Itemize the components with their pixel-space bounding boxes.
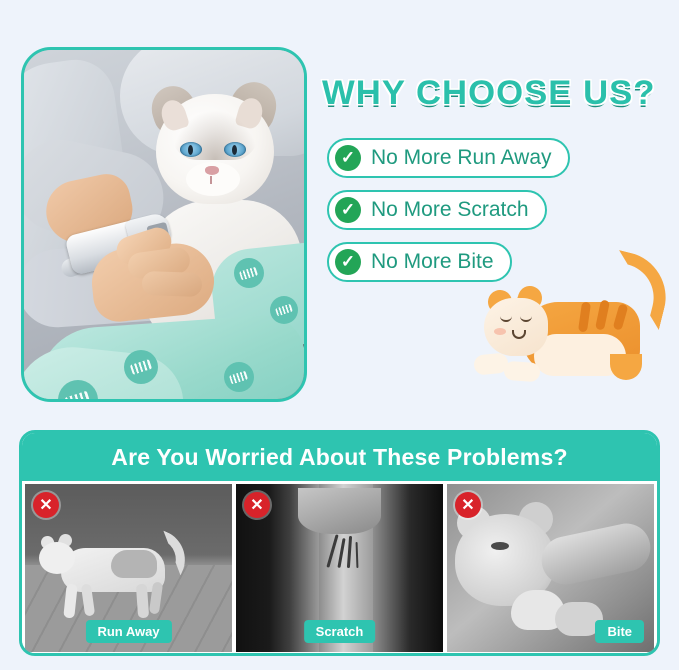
fishbone-print-4: [224, 362, 254, 392]
problem-1-cat-patch: [111, 550, 157, 578]
check-circle-icon: ✓: [335, 249, 361, 275]
why-choose-us-section: WHY CHOOSE US? ✓ No More Run Away ✓ No M…: [0, 0, 679, 424]
x-circle-icon: ✕: [244, 492, 270, 518]
x-circle-icon: ✕: [33, 492, 59, 518]
x-circle-icon: ✕: [455, 492, 481, 518]
cartoon-cat-back-leg: [610, 354, 642, 380]
cartoon-cat-head: [484, 298, 548, 356]
cat-mouth: [210, 176, 212, 184]
problem-caption: Run Away: [85, 620, 171, 643]
cat-pupil-left: [188, 145, 193, 155]
problem-1-cat-head: [39, 542, 75, 574]
problems-section: Are You Worried About These Problems? ✕ …: [19, 430, 660, 656]
problem-1-cat-leg-3: [136, 584, 149, 619]
problem-card-run-away: ✕ Run Away: [25, 484, 232, 652]
problem-caption: Bite: [595, 620, 644, 643]
hero-photo-cat-claw-trimming: [21, 47, 307, 402]
problem-3-cat-eye: [491, 542, 509, 550]
problems-title: Are You Worried About These Problems?: [22, 433, 657, 481]
fishbone-print-6: [270, 296, 298, 324]
cat-nose: [205, 166, 219, 175]
benefit-item-scratch: ✓ No More Scratch: [327, 190, 547, 230]
problem-2-hand: [298, 488, 381, 534]
person-finger-3: [142, 271, 203, 297]
fishbone-print-5: [234, 258, 264, 288]
check-circle-icon: ✓: [335, 145, 361, 171]
fishbone-print-2: [124, 350, 158, 384]
cat-pupil-right: [232, 145, 237, 155]
problem-card-scratch: ✕ Scratch: [236, 484, 443, 652]
cartoon-cat-illustration: [460, 258, 670, 408]
check-circle-icon: ✓: [335, 197, 361, 223]
benefit-label: No More Scratch: [371, 198, 529, 222]
cartoon-cat-front-paw-2: [503, 361, 540, 382]
problem-caption: Scratch: [304, 620, 376, 643]
page-title: WHY CHOOSE US?: [322, 74, 679, 113]
benefit-label: No More Run Away: [371, 146, 552, 170]
problem-card-bite: ✕ Bite: [447, 484, 654, 652]
cartoon-cat-blush: [494, 328, 506, 335]
problem-grid: ✕ Run Away ✕ Scratch ✕ Bite: [22, 481, 657, 655]
benefit-item-run-away: ✓ No More Run Away: [327, 138, 570, 178]
